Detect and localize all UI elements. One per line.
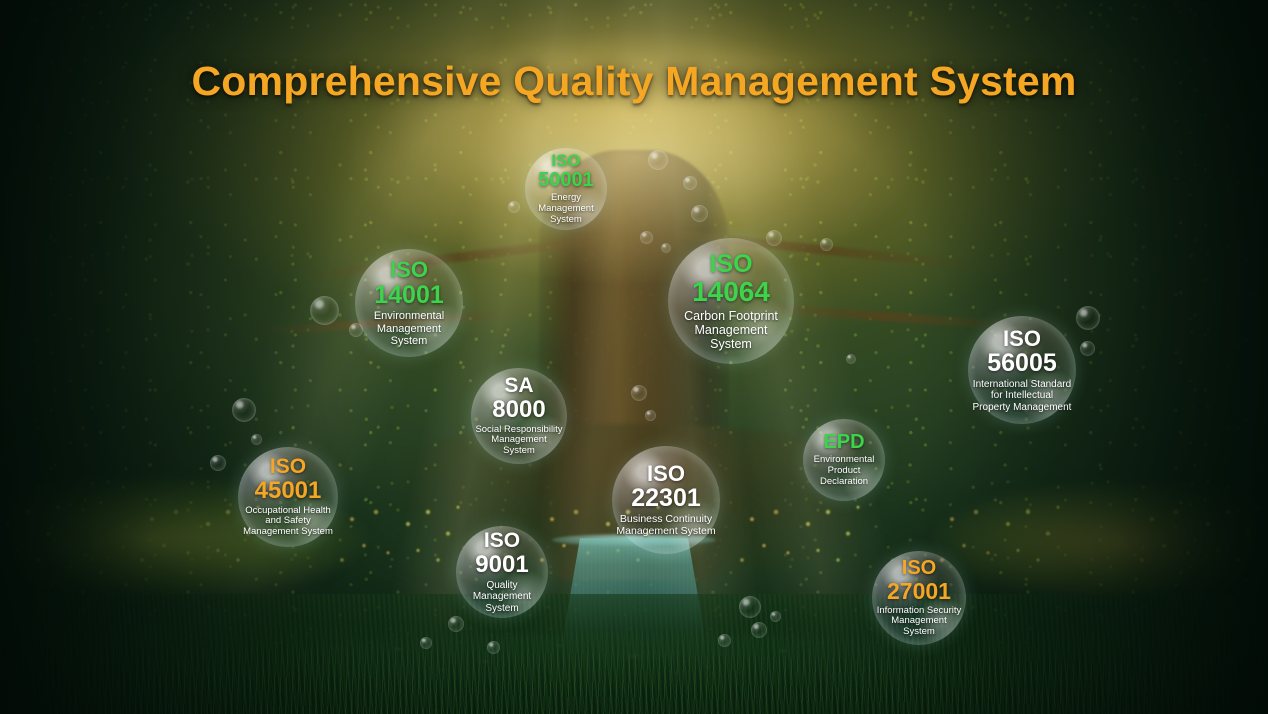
infographic-canvas: Comprehensive Quality Management System … <box>0 0 1268 714</box>
bubble-text: ISO14064Carbon Footprint Management Syst… <box>668 251 794 352</box>
standard-code-line1: ISO <box>672 251 790 278</box>
standard-code-line2: 27001 <box>876 579 962 603</box>
standard-bubble-iso-14001[interactable]: ISO14001Environmental Management System <box>355 249 463 357</box>
standard-code-line2: 14001 <box>359 282 459 309</box>
bubble-text: ISO9001Quality Management System <box>456 530 548 614</box>
standard-description: Social Responsibility Management System <box>475 425 563 457</box>
standard-code-line1: ISO <box>359 258 459 281</box>
standard-description: Environmental Product Declaration <box>807 455 881 487</box>
standard-code-line2: 14064 <box>672 277 790 307</box>
standard-code-line1: ISO <box>529 152 603 170</box>
standard-code-line2: 22301 <box>616 485 716 512</box>
standard-bubble-iso-27001[interactable]: ISO27001Information Security Management … <box>872 551 966 645</box>
standard-bubble-iso-14064[interactable]: ISO14064Carbon Footprint Management Syst… <box>668 238 794 364</box>
page-title: Comprehensive Quality Management System <box>0 58 1268 105</box>
standard-description: Environmental Management System <box>359 310 459 348</box>
standard-bubble-iso-56005[interactable]: ISO56005International Standard for Intel… <box>968 316 1076 424</box>
standard-code-line1: ISO <box>460 530 544 552</box>
standard-bubble-iso-50001[interactable]: ISO50001Energy Management System <box>525 148 607 230</box>
standard-description: Business Continuity Management System <box>616 514 716 538</box>
standard-bubble-iso-22301[interactable]: ISO22301Business Continuity Management S… <box>612 446 720 554</box>
standard-description: Energy Management System <box>529 193 603 225</box>
bubble-text: ISO45001Occupational Health and Safety M… <box>238 456 338 538</box>
standard-code-line2: 9001 <box>460 552 544 577</box>
standard-code-line1: SA <box>475 375 563 397</box>
standard-code-line1: ISO <box>972 327 1072 350</box>
standard-code-line2: 50001 <box>529 170 603 191</box>
standard-description: International Standard for Intellectual … <box>972 379 1072 413</box>
standard-description: Information Security Management System <box>876 606 962 638</box>
standard-bubble-iso-45001[interactable]: ISO45001Occupational Health and Safety M… <box>238 447 338 547</box>
standard-code-line1: ISO <box>242 456 334 478</box>
standard-code-line1: ISO <box>876 558 962 579</box>
bubble-text: EPDEnvironmental Product Declaration <box>803 432 885 488</box>
standard-code-line2: 56005 <box>972 350 1072 377</box>
standard-description: Occupational Health and Safety Managemen… <box>242 506 334 538</box>
bubble-text: ISO56005International Standard for Intel… <box>968 327 1076 413</box>
standard-description: Carbon Footprint Management System <box>672 309 790 352</box>
standard-bubble-sa-8000[interactable]: SA8000Social Responsibility Management S… <box>471 368 567 464</box>
standard-code-line1: EPD <box>807 432 881 453</box>
bubble-text: ISO14001Environmental Management System <box>355 258 463 347</box>
standard-bubble-iso-9001[interactable]: ISO9001Quality Management System <box>456 526 548 618</box>
standard-description: Quality Management System <box>460 580 544 614</box>
standard-code-line2: 8000 <box>475 397 563 422</box>
bubble-text: ISO22301Business Continuity Management S… <box>612 462 720 538</box>
standard-code-line2: 45001 <box>242 478 334 503</box>
bubble-text: ISO50001Energy Management System <box>525 152 607 226</box>
bubble-text: ISO27001Information Security Management … <box>872 558 966 638</box>
bubble-text: SA8000Social Responsibility Management S… <box>471 375 567 457</box>
background-vignette <box>0 0 1268 714</box>
standard-code-line1: ISO <box>616 462 716 485</box>
standard-bubble-epd[interactable]: EPDEnvironmental Product Declaration <box>803 419 885 501</box>
